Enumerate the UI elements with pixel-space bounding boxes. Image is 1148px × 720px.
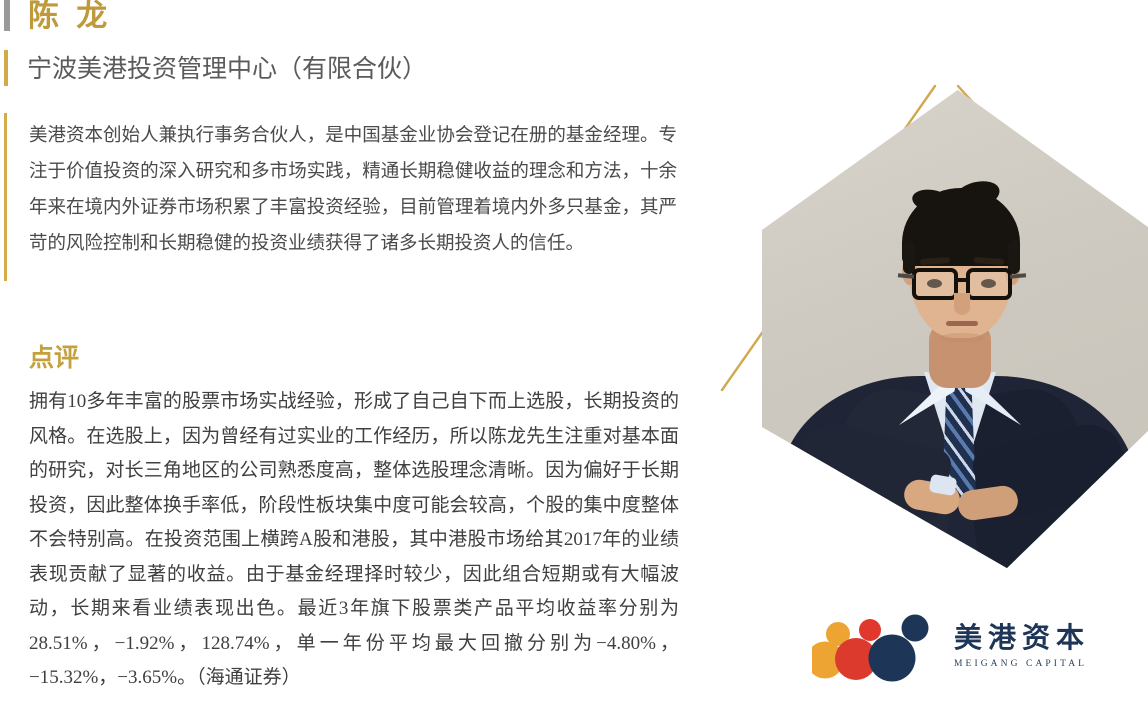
bio-accent-bar xyxy=(4,113,7,281)
portrait-block xyxy=(700,78,1148,578)
logo-circles-icon xyxy=(812,612,942,692)
eyeglasses-bridge xyxy=(957,278,968,282)
profile-page: 陈 龙 宁波美港投资管理中心（有限合伙） 美港资本创始人兼执行事务合伙人，是中国… xyxy=(0,0,1148,720)
person-bio: 美港资本创始人兼执行事务合伙人，是中国基金业协会登记在册的基金经理。专注于价值投… xyxy=(29,117,677,261)
logo-circle-navy-small xyxy=(902,615,929,642)
chin-shadow xyxy=(938,333,986,343)
logo-name-en: MEIGANG CAPITAL xyxy=(954,659,1090,669)
company-accent-bar xyxy=(4,50,8,86)
portrait-photo xyxy=(762,90,1148,568)
review-heading: 点评 xyxy=(29,343,79,373)
logo-name-cn: 美港资本 xyxy=(954,622,1090,656)
sideburn-left xyxy=(903,240,915,274)
company-name: 宁波美港投资管理中心（有限合伙） xyxy=(27,52,427,86)
brand-logo: 美港资本 MEIGANG CAPITAL xyxy=(812,612,1082,696)
eyeglasses-lens-right xyxy=(966,268,1012,300)
logo-text: 美港资本 MEIGANG CAPITAL xyxy=(954,622,1090,669)
name-accent-bar xyxy=(4,0,10,31)
nose xyxy=(954,293,970,315)
eyeglasses-lens-left xyxy=(912,268,958,300)
logo-circle-red-small xyxy=(859,619,881,641)
mouth xyxy=(946,321,978,326)
logo-circle-navy-large xyxy=(869,635,916,682)
review-body: 拥有10多年丰富的股票市场实战经验，形成了自己自下而上选股，长期投资的风格。在选… xyxy=(29,385,679,696)
sideburn-right xyxy=(1008,240,1020,274)
person-name: 陈 龙 xyxy=(28,0,107,35)
